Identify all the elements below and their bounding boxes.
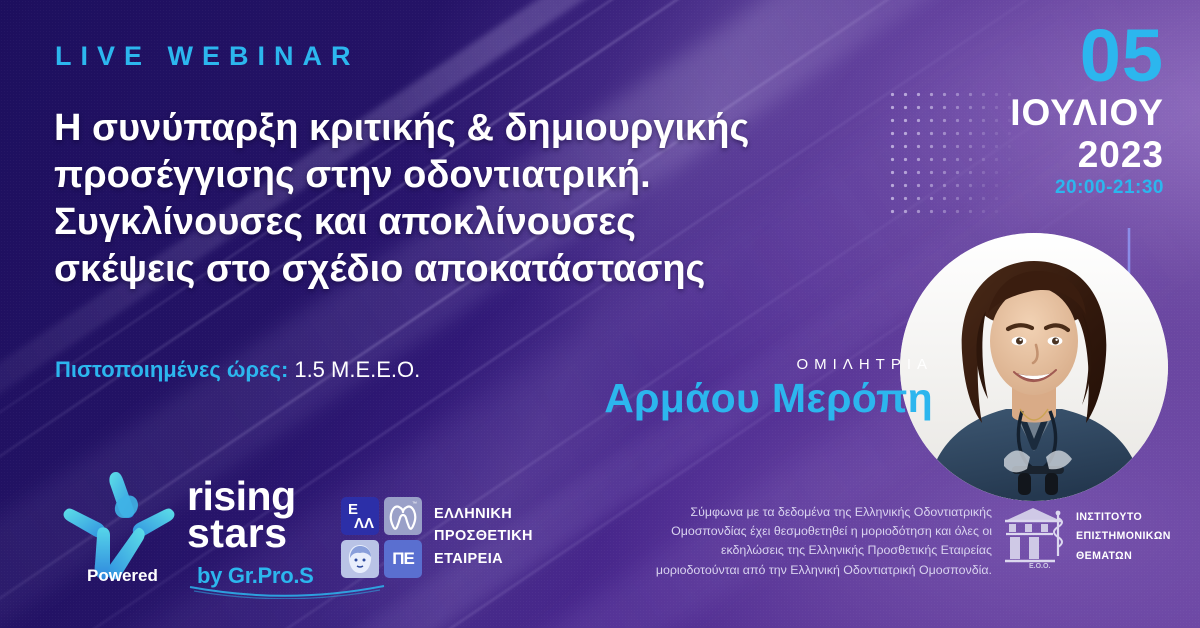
- epe-text-line-1: ΕΛΛΗΝΙΚΗ: [434, 503, 533, 525]
- certified-hours-label: Πιστοποιημένες ώρες:: [55, 357, 288, 382]
- institute-logo: Ε.Ο.Ο. ΙΝΣΤΙΤΟΥΤΟ ΕΠΙΣΤΗΜΟΝΙΚΩΝ ΘΕΜΑΤΩΝ: [1003, 502, 1178, 574]
- epe-logo-text: ΕΛΛΗΝΙΚΗ ΠΡΟΣΘΕΤΙΚΗ ΕΤΑΙΡΕΙΑ: [434, 503, 533, 570]
- disclaimer-line-4: μοριοδοτούνται από την Ελληνική Οδοντιατ…: [612, 561, 992, 580]
- date-day: 05: [864, 22, 1164, 90]
- speaker-name: Αρμάου Μερόπη: [500, 375, 933, 422]
- date-time: 20:00-21:30: [864, 174, 1164, 203]
- institute-logo-text: ΙΝΣΤΙΤΟΥΤΟ ΕΠΙΣΤΗΜΟΝΙΚΩΝ ΘΕΜΑΤΩΝ: [1076, 508, 1171, 566]
- institute-text-line-3: ΘΕΜΑΤΩΝ: [1076, 547, 1171, 566]
- live-webinar-kicker: LIVE WEBINAR: [55, 41, 360, 72]
- date-block: 05 ΙΟΥΛΙΟΥ 2023 20:00-21:30: [864, 22, 1164, 203]
- title-line-1: Η συνύπαρξη κριτικής & δημιουργικής: [54, 105, 884, 152]
- date-year: 2023: [864, 135, 1164, 174]
- svg-text:ΛΛ: ΛΛ: [354, 515, 374, 532]
- temple-caduceus-icon: Ε.Ο.Ο.: [1003, 504, 1071, 570]
- date-month: ΙΟΥΛΙΟΥ: [864, 90, 1164, 135]
- speaker-photo: [900, 233, 1168, 501]
- disclaimer-line-2: Ομοσπονδίας έχει θεσμοθετηθεί η μοριοδότ…: [612, 522, 992, 541]
- institute-text-line-2: ΕΠΙΣΤΗΜΟΝΙΚΩΝ: [1076, 527, 1171, 546]
- disclaimer-line-3: εκδηλώσεις της Ελληνικής Προσθετικής Ετα…: [612, 541, 992, 560]
- certified-hours-value: 1.5 Μ.Ε.Ε.Ο.: [294, 357, 420, 382]
- institute-mark: Ε.Ο.Ο.: [1029, 563, 1050, 570]
- rising-stars-line2: stars: [187, 514, 288, 554]
- epe-tile-pe-label: ΠΕ: [392, 549, 414, 569]
- disclaimer-text: Σύμφωνα με τα δεδομένα της Ελληνικής Οδο…: [612, 503, 992, 580]
- webinar-banner: LIVE WEBINAR Η συνύπαρξη κριτικής & δημι…: [0, 0, 1200, 628]
- epe-tile-bust: [341, 540, 379, 578]
- epe-logo: Ε ΛΛ ™ ΠΕ: [341, 497, 541, 585]
- logo-swoosh-icon: [188, 583, 388, 599]
- epe-tile-ell: Ε ΛΛ: [341, 497, 379, 535]
- speaker-role-label: ΟΜΙΛΗΤΡΙΑ: [733, 356, 933, 373]
- epe-tile-tooth: ™: [384, 497, 422, 535]
- page-title: Η συνύπαρξη κριτικής & δημιουργικής προσ…: [54, 105, 884, 293]
- disclaimer-line-1: Σύμφωνα με τα δεδομένα της Ελληνικής Οδο…: [612, 503, 992, 522]
- title-line-3: Συγκλίνουσες και αποκλίνουσες: [54, 199, 884, 246]
- rising-stars-powered: Powered: [87, 566, 158, 586]
- epe-text-line-3: ΕΤΑΙΡΕΙΑ: [434, 548, 533, 570]
- title-line-4: σκέψεις στο σχέδιο αποκατάστασης: [54, 246, 884, 293]
- title-line-2: προσέγγισης στην οδοντιατρική.: [54, 152, 884, 199]
- epe-logo-tiles: Ε ΛΛ ™ ΠΕ: [341, 497, 423, 579]
- svg-text:™: ™: [412, 501, 417, 507]
- institute-text-line-1: ΙΝΣΤΙΤΟΥΤΟ: [1076, 508, 1171, 527]
- rising-stars-logo: rising stars Powered by Gr.Pro.S: [56, 466, 346, 601]
- epe-tile-pe: ΠΕ: [384, 540, 422, 578]
- certified-hours: Πιστοποιημένες ώρες:1.5 Μ.Ε.Ε.Ο.: [55, 357, 420, 383]
- epe-text-line-2: ΠΡΟΣΘΕΤΙΚΗ: [434, 525, 533, 547]
